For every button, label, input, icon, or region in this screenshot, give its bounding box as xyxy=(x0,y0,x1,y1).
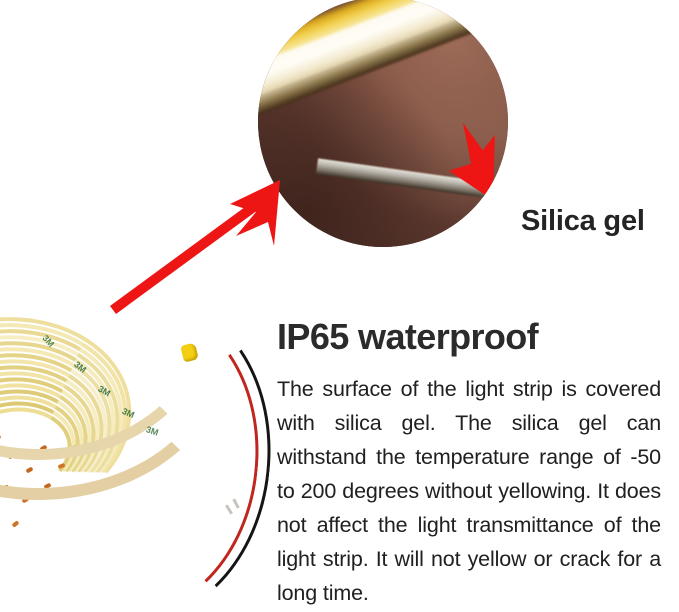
macro-circle-led-strip-edge xyxy=(258,0,508,247)
product-feature-image: 3M 3M 3M 3M 3M xyxy=(0,0,679,612)
feature-body-text: The surface of the light strip is covere… xyxy=(277,372,661,610)
silica-gel-label: Silica gel xyxy=(521,205,645,238)
feature-headline: IP65 waterproof xyxy=(277,316,538,358)
arrow-to-macro-circle-icon xyxy=(110,178,290,308)
arrow-to-silica-label-icon xyxy=(446,119,508,224)
